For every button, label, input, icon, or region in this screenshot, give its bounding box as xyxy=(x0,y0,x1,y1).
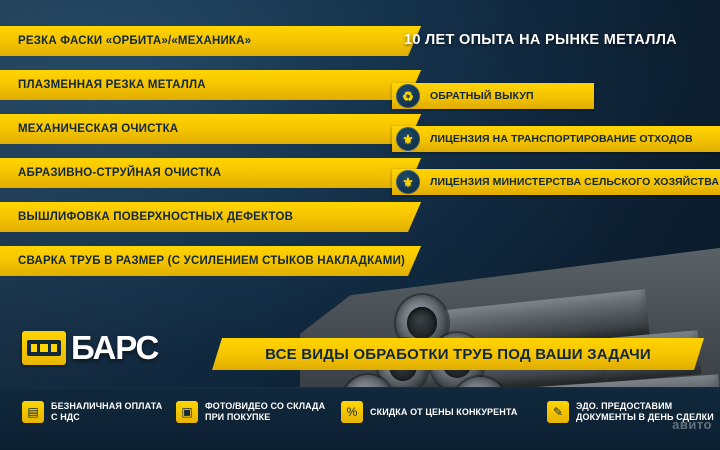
service-label: МЕХАНИЧЕСКАЯ ОЧИСТКА xyxy=(18,123,178,135)
service-item-2[interactable]: ПЛАЗМЕННАЯ РЕЗКА МЕТАЛЛА xyxy=(0,70,421,100)
company-name: БАРС xyxy=(71,329,158,367)
badge-label: ЛИЦЕНЗИЯ МИНИСТЕРСТВА СЕЛЬСКОГО ХОЗЯЙСТВ… xyxy=(430,176,719,188)
recycle-icon: ♻ xyxy=(396,84,420,108)
watermark: авито xyxy=(672,417,712,432)
benefit-item-payment[interactable]: ▤ БЕЗНАЛИЧНАЯ ОПЛАТА С НДС xyxy=(22,401,162,423)
company-logo[interactable]: БАРС xyxy=(22,329,158,367)
service-label: ПЛАЗМЕННАЯ РЕЗКА МЕТАЛЛА xyxy=(18,79,206,91)
certifications-list: ♻ ОБРАТНЫЙ ВЫКУП ⚜ ЛИЦЕНЗИЯ НА ТРАНСПОРТ… xyxy=(392,83,720,212)
service-label: РЕЗКА ФАСКИ «ОРБИТА»/«МЕХАНИКА» xyxy=(18,35,251,47)
service-label: АБРАЗИВНО-СТРУЙНАЯ ОЧИСТКА xyxy=(18,167,221,179)
benefit-label: СКИДКА ОТ ЦЕНЫ КОНКУРЕНТА xyxy=(370,407,518,418)
service-label: ВЫШЛИФОВКА ПОВЕРХНОСТНЫХ ДЕФЕКТОВ xyxy=(18,211,293,223)
advertisement-banner: РЕЗКА ФАСКИ «ОРБИТА»/«МЕХАНИКА» ПЛАЗМЕНН… xyxy=(0,0,720,450)
service-item-5[interactable]: ВЫШЛИФОВКА ПОВЕРХНОСТНЫХ ДЕФЕКТОВ xyxy=(0,202,421,232)
emblem-icon: ⚜ xyxy=(396,127,420,151)
eagle-emblem-icon: ⚜ xyxy=(396,170,420,194)
service-item-1[interactable]: РЕЗКА ФАСКИ «ОРБИТА»/«МЕХАНИКА» xyxy=(0,26,421,56)
benefit-item-discount[interactable]: % СКИДКА ОТ ЦЕНЫ КОНКУРЕНТА xyxy=(341,401,518,423)
discount-tag-icon: % xyxy=(341,401,363,423)
benefit-item-photo[interactable]: ▣ ФОТО/ВИДЕО СО СКЛАДА ПРИ ПОКУПКЕ xyxy=(176,401,325,423)
services-list: РЕЗКА ФАСКИ «ОРБИТА»/«МЕХАНИКА» ПЛАЗМЕНН… xyxy=(0,26,421,290)
headline-text: 10 ЛЕТ ОПЫТА НА РЫНКЕ МЕТАЛЛА xyxy=(404,32,677,48)
service-item-6[interactable]: СВАРКА ТРУБ В РАЗМЕР (С УСИЛЕНИЕМ СТЫКОВ… xyxy=(0,246,421,276)
badge-agriculture-ministry-license[interactable]: ⚜ ЛИЦЕНЗИЯ МИНИСТЕРСТВА СЕЛЬСКОГО ХОЗЯЙС… xyxy=(392,169,720,195)
camera-icon: ▣ xyxy=(176,401,198,423)
truck-logo-icon xyxy=(22,331,66,365)
benefit-label: ФОТО/ВИДЕО СО СКЛАДА ПРИ ПОКУПКЕ xyxy=(205,401,325,423)
main-slogan-banner: ВСЕ ВИДЫ ОБРАБОТКИ ТРУБ ПОД ВАШИ ЗАДАЧИ xyxy=(212,338,704,370)
badge-label: ЛИЦЕНЗИЯ НА ТРАНСПОРТИРОВАНИЕ ОТХОДОВ xyxy=(430,133,693,145)
service-item-4[interactable]: АБРАЗИВНО-СТРУЙНАЯ ОЧИСТКА xyxy=(0,158,421,188)
badge-waste-transport-license[interactable]: ⚜ ЛИЦЕНЗИЯ НА ТРАНСПОРТИРОВАНИЕ ОТХОДОВ xyxy=(392,126,720,152)
badge-buyback[interactable]: ♻ ОБРАТНЫЙ ВЫКУП xyxy=(392,83,594,109)
bottom-benefits-bar: ▤ БЕЗНАЛИЧНАЯ ОПЛАТА С НДС ▣ ФОТО/ВИДЕО … xyxy=(0,387,720,450)
benefit-label: БЕЗНАЛИЧНАЯ ОПЛАТА С НДС xyxy=(51,401,162,423)
invoice-icon: ▤ xyxy=(22,401,44,423)
service-label: СВАРКА ТРУБ В РАЗМЕР (С УСИЛЕНИЕМ СТЫКОВ… xyxy=(18,255,405,267)
badge-label: ОБРАТНЫЙ ВЫКУП xyxy=(430,90,534,102)
document-sign-icon: ✎ xyxy=(547,401,569,423)
service-item-3[interactable]: МЕХАНИЧЕСКАЯ ОЧИСТКА xyxy=(0,114,421,144)
